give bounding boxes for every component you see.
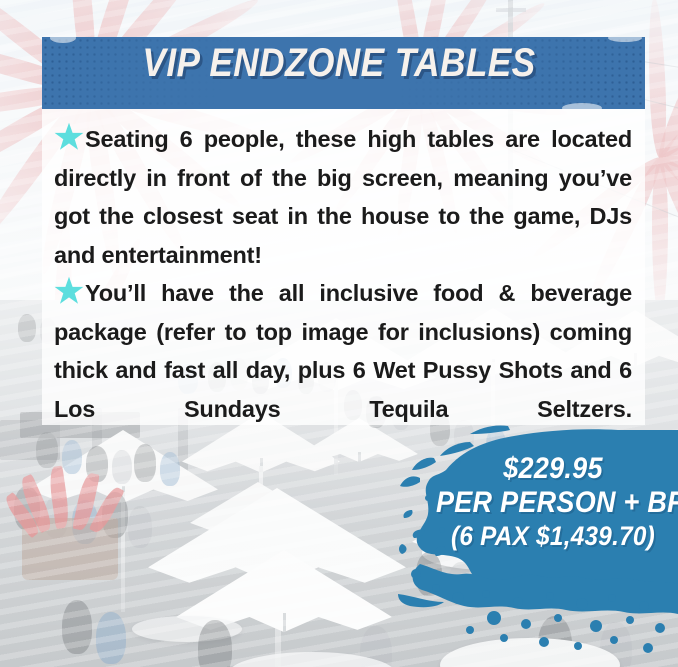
crowd-figure xyxy=(18,314,36,342)
crowd-figure xyxy=(62,600,92,654)
body-copy: Seating 6 people, these high tables are … xyxy=(54,120,632,467)
price-unit: PER PERSON + BF xyxy=(436,486,670,520)
crowd-figure xyxy=(416,552,442,596)
banner-nick xyxy=(562,103,602,109)
bullet-item: Seating 6 people, these high tables are … xyxy=(54,120,632,274)
bullet-item: You’ll have the all inclusive food & bev… xyxy=(54,274,632,467)
star-icon xyxy=(54,276,84,305)
crowd-figure xyxy=(128,506,152,548)
banner-edge-bottom xyxy=(372,106,592,109)
price-amount: $229.95 xyxy=(436,452,670,486)
price-block: $229.95 PER PERSON + BF (6 PAX $1,439.70… xyxy=(436,452,670,552)
bullet-text: You’ll have the all inclusive food & bev… xyxy=(54,280,632,422)
crowd-figure xyxy=(448,562,474,606)
crowd-figure xyxy=(198,620,232,667)
page-title: VIP ENDZONE TABLES xyxy=(41,39,638,87)
round-table xyxy=(440,638,620,667)
promo-poster: VIP ENDZONE TABLES Seating 6 people, the… xyxy=(0,0,678,667)
bullet-text: Seating 6 people, these high tables are … xyxy=(54,126,632,268)
price-note: (6 PAX $1,439.70) xyxy=(436,520,670,552)
crowd-figure xyxy=(478,554,504,602)
crowd-figure xyxy=(96,612,126,664)
star-icon xyxy=(54,122,84,151)
light-pole-arm xyxy=(496,8,526,12)
crowd-figure xyxy=(508,566,534,610)
